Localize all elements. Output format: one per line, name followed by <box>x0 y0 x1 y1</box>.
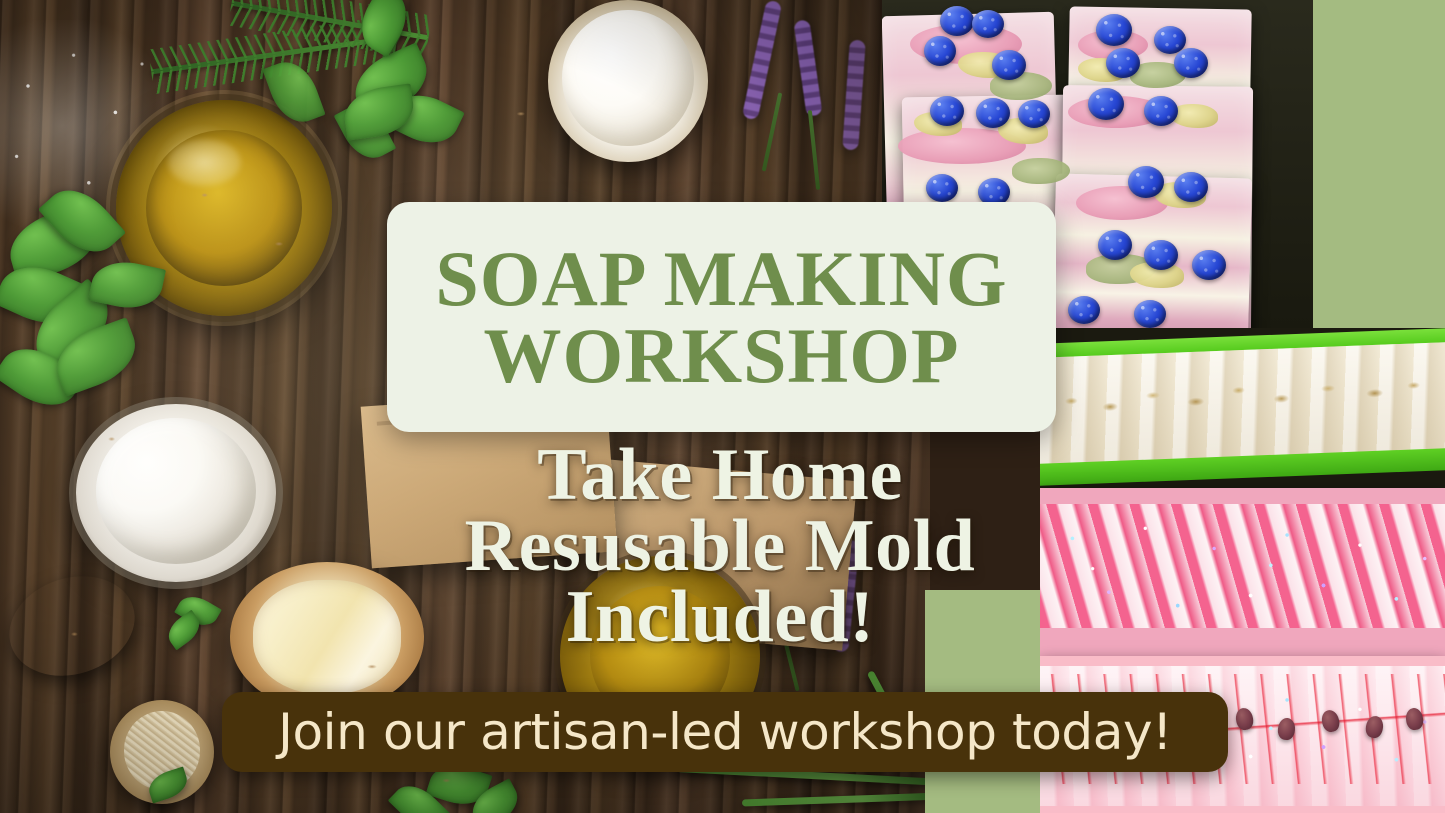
soap-loaf-pink-swirl <box>1040 488 1445 656</box>
blue-berry-soap-embed <box>1174 172 1208 202</box>
subtitle-line-1: Take Home <box>370 440 1070 511</box>
blue-berry-soap-embed <box>1144 96 1178 126</box>
lavender-sprig <box>842 40 866 151</box>
blue-berry-soap-embed <box>1018 100 1050 128</box>
blue-berry-soap-embed <box>1144 240 1178 270</box>
lavender-stem <box>808 110 820 190</box>
blue-berry-soap-embed <box>1068 296 1100 324</box>
promo-poster: SOAP MAKING WORKSHOP Take Home Resusable… <box>0 0 1445 813</box>
cta-banner[interactable]: Join our artisan-led workshop today! <box>222 692 1228 772</box>
title-card: SOAP MAKING WORKSHOP <box>387 202 1056 432</box>
woven-seed-pod <box>0 561 148 692</box>
blue-berry-soap-embed <box>1098 230 1132 260</box>
cta-label: Join our artisan-led workshop today! <box>278 707 1172 757</box>
subtitle-block: Take Home Resusable Mold Included! <box>370 440 1070 653</box>
blue-berry-soap-embed <box>1174 48 1208 78</box>
blue-berry-soap-embed <box>1106 48 1140 78</box>
blue-berry-soap-embed <box>1096 14 1132 46</box>
coconut-oil-bowl <box>76 404 276 582</box>
whipped-butter-bowl <box>548 0 708 162</box>
blue-berry-soap-embed <box>926 174 958 202</box>
title-line-2: WORKSHOP <box>483 317 959 394</box>
soap-loaf-cream-botanical <box>1040 328 1445 488</box>
lavender-stem <box>762 92 783 171</box>
blue-berry-soap-embed <box>992 50 1026 80</box>
blue-berry-soap-embed <box>1088 88 1124 120</box>
blue-berry-soap-embed <box>976 98 1010 128</box>
blue-berry-soap-embed <box>1128 166 1164 198</box>
title-line-1: SOAP MAKING <box>435 240 1007 317</box>
blue-berry-soap-embed <box>1134 300 1166 328</box>
glitter-topping <box>1040 488 1445 656</box>
sage-green-right-strip <box>1313 0 1445 328</box>
lavender-sprig <box>793 19 822 116</box>
blue-berry-soap-embed <box>924 36 956 66</box>
blue-berry-soap-embed <box>1192 250 1226 280</box>
blue-berry-soap-embed <box>940 6 974 36</box>
chive-stem <box>742 793 930 807</box>
subtitle-line-3: Included! <box>370 582 1070 653</box>
blue-berry-soap-embed <box>930 96 964 126</box>
blue-berry-soap-embed <box>972 10 1004 38</box>
subtitle-line-2: Resusable Mold <box>370 511 1070 582</box>
